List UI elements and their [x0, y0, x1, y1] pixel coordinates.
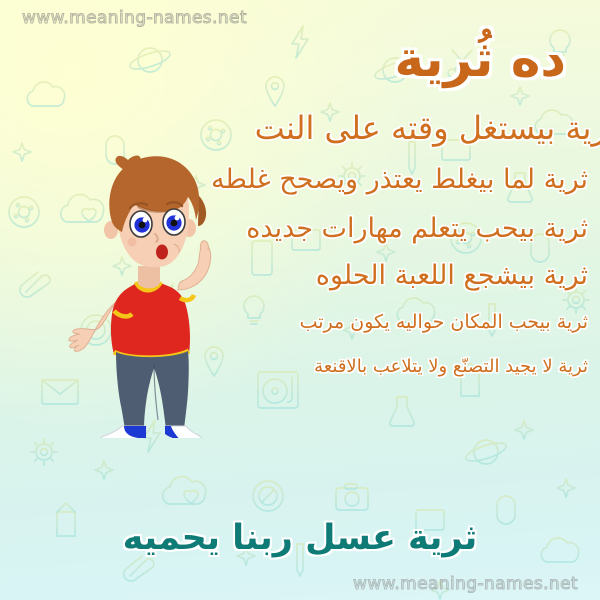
page-title: ده ثُرية: [394, 30, 566, 88]
name-card: www.meaning-names.net ده ثُرية: [0, 0, 600, 600]
attribute-line: ثُرية بيستغل وقته على النت: [0, 112, 600, 144]
attribute-list: ثُرية بيستغل وقته على النت ثرية لما بيغل…: [0, 112, 588, 376]
attribute-line: ثرية بيحب يتعلم مهارات جديده: [0, 215, 588, 242]
attribute-line: ثرية بيحب المكان حواليه يكون مرتب: [0, 313, 588, 332]
attribute-line: ثرية لا يجيد التصنّع ولا يتلاعب بالاقنعة: [0, 358, 588, 376]
attribute-line: ثرية لما بيغلط يعتذر ويصحح غلطه: [0, 166, 588, 193]
watermark-bottom: www.meaning-names.net: [353, 574, 578, 594]
watermark-top: www.meaning-names.net: [22, 8, 247, 28]
attribute-line: ثرية بيشجع اللعبة الحلوه: [0, 262, 588, 289]
footer-phrase: ثرية عسل ربنا يحميه: [0, 518, 600, 558]
